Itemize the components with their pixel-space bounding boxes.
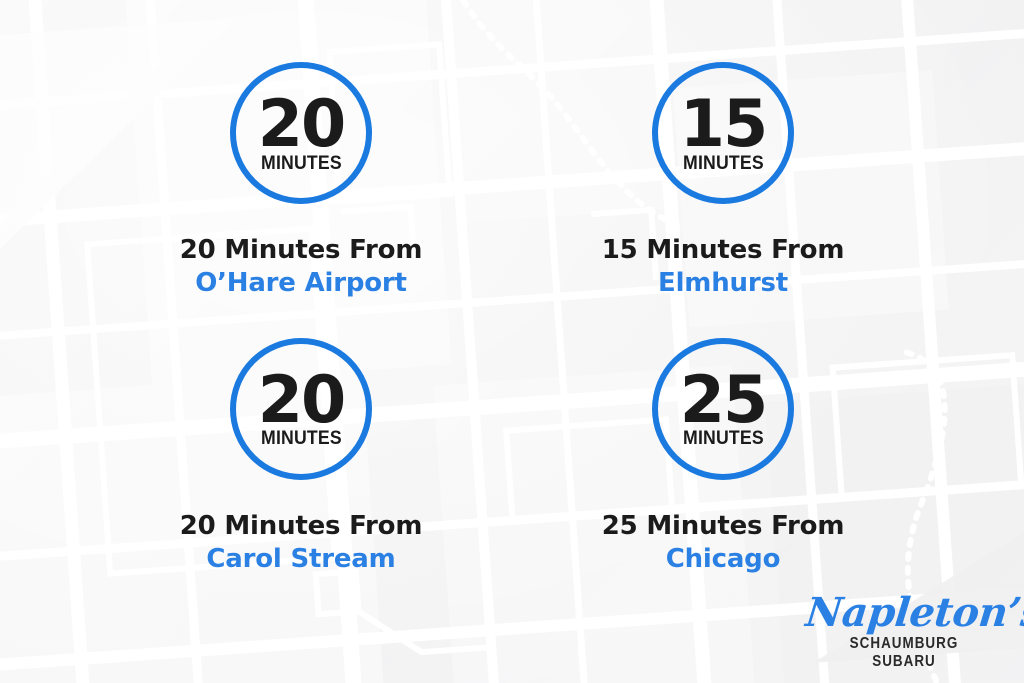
stat-caption: 20 Minutes From O’Hare Airport <box>180 236 423 298</box>
logo-brand-script: Napleton’s <box>804 593 1004 633</box>
caption-location: Carol Stream <box>180 545 423 574</box>
badge-unit-label: MINUTES <box>683 153 764 175</box>
badge-unit-label: MINUTES <box>683 428 764 450</box>
drive-time-grid: 20 MINUTES 20 Minutes From O’Hare Airpor… <box>0 0 1024 683</box>
stat-item-carol-stream: 20 MINUTES 20 Minutes From Carol Stream <box>90 338 512 614</box>
stat-item-ohare-airport: 20 MINUTES 20 Minutes From O’Hare Airpor… <box>90 62 512 338</box>
badge-number: 20 <box>258 95 344 155</box>
badge-number: 25 <box>680 371 766 431</box>
caption-primary: 20 Minutes From <box>180 236 423 265</box>
dealership-logo: Napleton’s SCHAUMBURG SUBARU <box>806 593 1002 671</box>
minutes-badge-ohare-airport: 20 MINUTES <box>230 62 372 204</box>
stat-item-chicago: 25 MINUTES 25 Minutes From Chicago <box>512 338 934 614</box>
caption-primary: 25 Minutes From <box>602 512 845 541</box>
badge-number: 20 <box>258 371 344 431</box>
badge-number: 15 <box>680 95 766 155</box>
minutes-badge-carol-stream: 20 MINUTES <box>230 338 372 480</box>
stat-item-elmhurst: 15 MINUTES 15 Minutes From Elmhurst <box>512 62 934 338</box>
stat-caption: 20 Minutes From Carol Stream <box>180 512 423 574</box>
badge-unit-label: MINUTES <box>261 153 342 175</box>
minutes-badge-chicago: 25 MINUTES <box>652 338 794 480</box>
stat-caption: 25 Minutes From Chicago <box>602 512 845 574</box>
caption-primary: 20 Minutes From <box>180 512 423 541</box>
promo-graphic: 20 MINUTES 20 Minutes From O’Hare Airpor… <box>0 0 1024 683</box>
stat-caption: 15 Minutes From Elmhurst <box>602 236 845 298</box>
badge-unit-label: MINUTES <box>261 428 342 450</box>
caption-location: Elmhurst <box>602 269 845 298</box>
minutes-badge-elmhurst: 15 MINUTES <box>652 62 794 204</box>
caption-location: Chicago <box>602 545 845 574</box>
caption-location: O’Hare Airport <box>180 269 423 298</box>
caption-primary: 15 Minutes From <box>602 236 845 265</box>
logo-brand-subtitle: SCHAUMBURG SUBARU <box>822 635 987 671</box>
